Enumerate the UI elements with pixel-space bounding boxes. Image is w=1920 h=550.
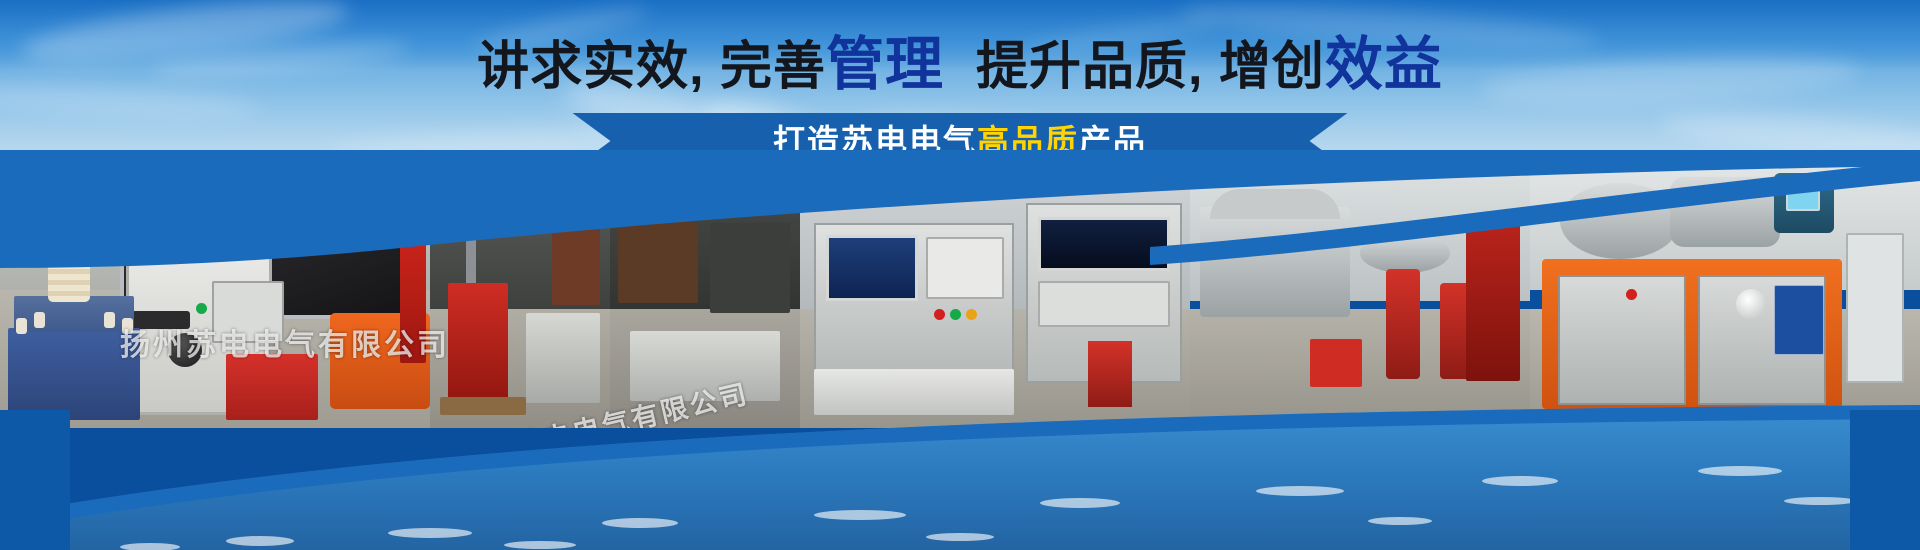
photo-red-test-frame: [430, 163, 610, 428]
watermark: 扬州苏电电气有限公司: [120, 320, 450, 364]
right-edge-panel: [1850, 410, 1920, 550]
ribbon-text-after: 产品: [1079, 123, 1147, 159]
cloud-wisp: [1659, 105, 1920, 167]
photo-oil-purifier: [1530, 163, 1920, 428]
ribbon-text: 打造苏电电气高品质产品: [773, 113, 1147, 169]
photo-strip: 扬州苏电电气有限公司 扬州苏电电气有限公司: [0, 163, 1920, 428]
water-surface: [0, 395, 1920, 550]
photo-transformer-and-case: [0, 163, 430, 428]
promotional-banner: 讲求实效, 完善管理提升品质, 增创效益 打造苏电电气高品质产品: [0, 0, 1920, 550]
water-shape: [0, 395, 1920, 550]
headline: 讲求实效, 完善管理提升品质, 增创效益: [0, 34, 1920, 98]
headline-part-2: 提升品质, 增创: [976, 38, 1325, 96]
ribbon-text-before: 打造苏电电气: [773, 123, 977, 159]
headline-highlight-2: 效益: [1325, 32, 1443, 97]
photo-control-console: [800, 163, 1190, 428]
headline-highlight-1: 管理: [826, 32, 944, 97]
ribbon-text-highlight: 高品质: [977, 123, 1079, 159]
ribbon-banner: 打造苏电电气高品质产品: [573, 113, 1348, 169]
photo-test-bench: [1190, 163, 1530, 428]
left-edge-panel: [0, 410, 70, 550]
headline-part-1: 讲求实效, 完善: [477, 38, 826, 96]
